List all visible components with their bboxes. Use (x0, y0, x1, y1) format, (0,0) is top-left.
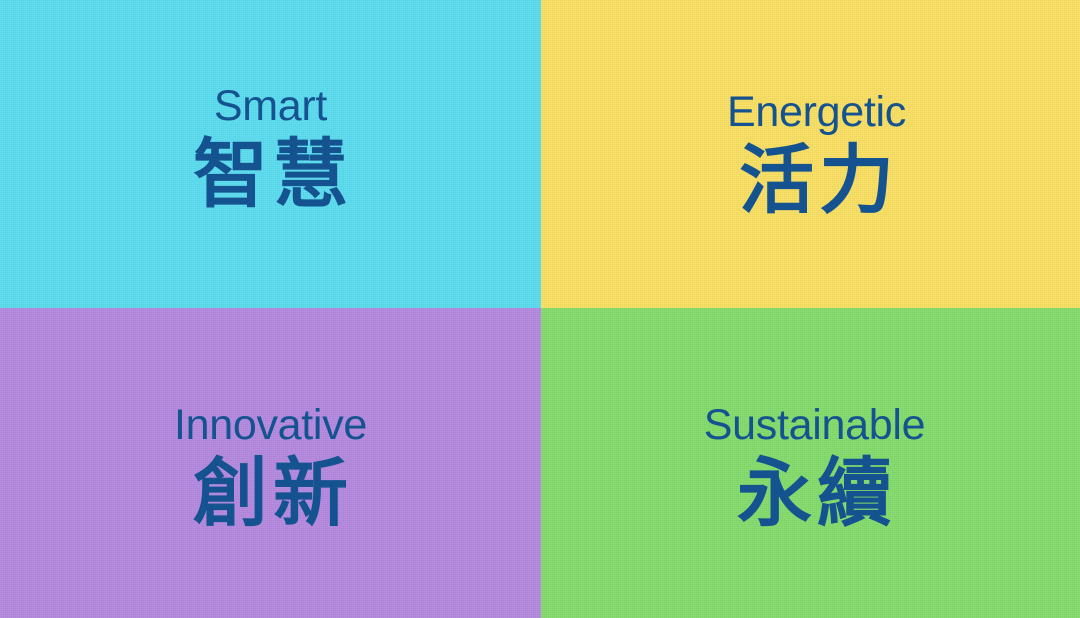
quadrant-smart[interactable]: Smart 智慧 (0, 0, 541, 308)
quadrant-sustainable-label-en: Sustainable (704, 403, 925, 448)
quadrant-innovative-label-en: Innovative (174, 403, 367, 448)
quadrant-innovative[interactable]: Innovative 創新 (0, 308, 541, 618)
quadrant-innovative-content: Innovative 創新 (174, 403, 367, 534)
quadrant-energetic-label-en: Energetic (727, 90, 906, 135)
quadrant-energetic-label-zh: 活力 (734, 138, 899, 222)
brand-values-grid: Smart 智慧 Energetic 活力 Innovative 創新 Sust… (0, 0, 1080, 618)
quadrant-smart-content: Smart 智慧 (188, 84, 353, 215)
quadrant-smart-label-en: Smart (214, 84, 327, 129)
quadrant-sustainable-label-zh: 永續 (732, 451, 897, 535)
quadrant-sustainable-content: Sustainable 永續 (704, 403, 925, 534)
quadrant-sustainable[interactable]: Sustainable 永續 (541, 308, 1080, 618)
quadrant-innovative-label-zh: 創新 (188, 451, 353, 535)
quadrant-energetic[interactable]: Energetic 活力 (541, 0, 1080, 308)
quadrant-energetic-content: Energetic 活力 (727, 90, 906, 221)
quadrant-smart-label-zh: 智慧 (188, 132, 353, 216)
